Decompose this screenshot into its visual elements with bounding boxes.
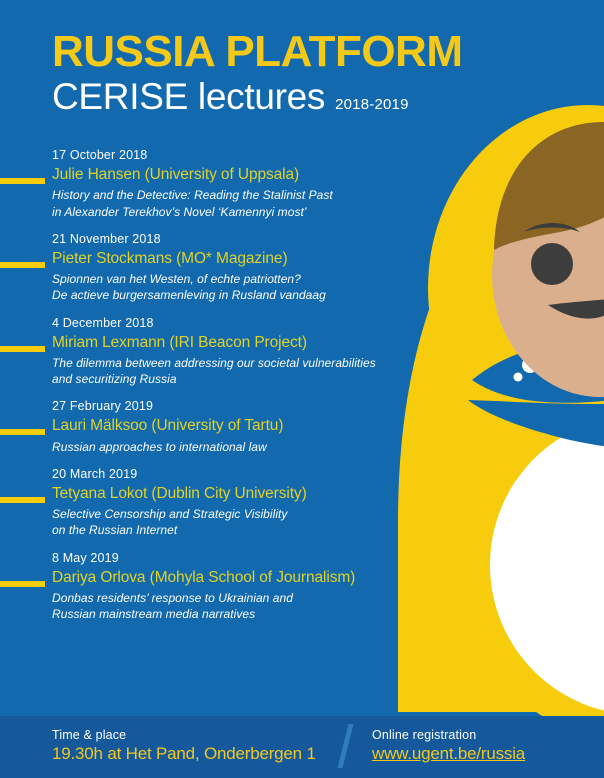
lecture-topic-line-2: De actieve burgersamenleving in Rusland …: [52, 287, 420, 303]
time-place-value: 19.30h at Het Pand, Onderbergen 1: [52, 744, 316, 764]
lecture-date: 17 October 2018: [52, 148, 420, 162]
page-subtitle: CERISE lectures: [52, 78, 325, 117]
lecture-speaker: Lauri Mälksoo (University of Tartu): [52, 416, 420, 435]
lecture-topic-line-2: Russian mainstream media narratives: [52, 606, 420, 622]
page-title: RUSSIA PLATFORM: [52, 30, 462, 74]
poster-content: RUSSIA PLATFORM CERISE lectures 2018-201…: [0, 0, 604, 778]
list-item: 4 December 2018 Miriam Lexmann (IRI Beac…: [0, 316, 420, 388]
list-item: 17 October 2018 Julie Hansen (University…: [0, 148, 420, 220]
footer-registration-block: Online registration www.ugent.be/russia: [372, 728, 525, 764]
lecture-date: 4 December 2018: [52, 316, 420, 330]
bullet-dash-icon: [0, 262, 45, 268]
list-item: 20 March 2019 Tetyana Lokot (Dublin City…: [0, 467, 420, 539]
time-place-label: Time & place: [52, 728, 316, 742]
bullet-dash-icon: [0, 346, 45, 352]
footer-time-place-block: Time & place 19.30h at Het Pand, Onderbe…: [52, 728, 316, 764]
academic-year-label: 2018-2019: [335, 96, 409, 113]
list-item: 21 November 2018 Pieter Stockmans (MO* M…: [0, 232, 420, 304]
lecture-date: 21 November 2018: [52, 232, 420, 246]
lecture-speaker: Miriam Lexmann (IRI Beacon Project): [52, 333, 420, 352]
bullet-dash-icon: [0, 178, 45, 184]
lecture-topic-line-2: on the Russian Internet: [52, 522, 420, 538]
lecture-speaker: Julie Hansen (University of Uppsala): [52, 165, 420, 184]
lecture-topic-line-1: Donbas residents’ response to Ukrainian …: [52, 590, 420, 606]
lecture-topic-line-1: Spionnen van het Westen, of echte patrio…: [52, 271, 420, 287]
poster-footer: Time & place 19.30h at Het Pand, Onderbe…: [0, 716, 604, 778]
poster-subtitle-row: CERISE lectures 2018-2019: [52, 78, 462, 117]
lecture-speaker: Pieter Stockmans (MO* Magazine): [52, 249, 420, 268]
lecture-date: 20 March 2019: [52, 467, 420, 481]
lecture-date: 27 February 2019: [52, 399, 420, 413]
bullet-dash-icon: [0, 497, 45, 503]
lecture-topic-line-1: Selective Censorship and Strategic Visib…: [52, 506, 420, 522]
list-item: 27 February 2019 Lauri Mälksoo (Universi…: [0, 399, 420, 455]
bullet-dash-icon: [0, 429, 45, 435]
lecture-topic-line-1: History and the Detective: Reading the S…: [52, 187, 420, 203]
registration-label: Online registration: [372, 728, 525, 742]
lecture-list: 17 October 2018 Julie Hansen (University…: [0, 148, 420, 634]
lecture-topic-line-2: and securitizing Russia: [52, 371, 420, 387]
lecture-topic-line-1: Russian approaches to international law: [52, 439, 420, 455]
registration-link[interactable]: www.ugent.be/russia: [372, 744, 525, 763]
footer-divider-slash-icon: [338, 724, 354, 768]
poster-title-block: RUSSIA PLATFORM CERISE lectures 2018-201…: [52, 30, 462, 117]
lecture-topic-line-1: The dilemma between addressing our socie…: [52, 355, 420, 371]
lecture-topic-line-2: in Alexander Terekhov’s Novel ‘Kamennyi …: [52, 204, 420, 220]
lecture-speaker: Dariya Orlova (Mohyla School of Journali…: [52, 568, 420, 587]
list-item: 8 May 2019 Dariya Orlova (Mohyla School …: [0, 551, 420, 623]
bullet-dash-icon: [0, 581, 45, 587]
lecture-date: 8 May 2019: [52, 551, 420, 565]
lecture-speaker: Tetyana Lokot (Dublin City University): [52, 484, 420, 503]
